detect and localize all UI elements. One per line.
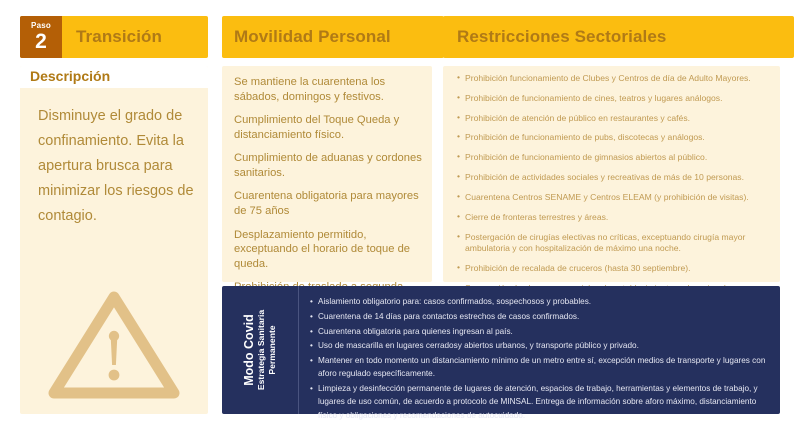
step-header: Paso 2 Transición: [20, 16, 208, 58]
mobility-item: Desplazamiento permitido, exceptuando el…: [234, 228, 422, 272]
restrictions-title: Restricciones Sectoriales: [457, 27, 666, 47]
mobility-item: Se mantiene la cuarentena los sábados, d…: [234, 75, 422, 104]
restriction-item: Prohibición de funcionamiento de gimnasi…: [457, 152, 768, 163]
covid-measure-item: Cuarentena de 14 días para contactos est…: [310, 310, 770, 323]
description-label: Descripción: [30, 68, 110, 84]
restriction-item: Cierre de fronteras terrestres y áreas.: [457, 212, 768, 223]
covid-measure-item: Aislamiento obligatorio para: casos conf…: [310, 295, 770, 308]
mobility-item: Cuarentena obligatoria para mayores de 7…: [234, 189, 422, 218]
description-text: Disminuye el grado de confinamiento. Evi…: [38, 104, 194, 229]
restrictions-header: Restricciones Sectoriales: [443, 16, 794, 58]
restriction-item: Prohibición de funcionamiento de cines, …: [457, 93, 768, 104]
covid-mode-sidebar: Modo Covid Estrategia Sanitaria Permanen…: [222, 286, 299, 414]
step-badge: Paso 2: [20, 16, 62, 58]
covid-mode-subtitle-line1: Estrategia Sanitaria: [256, 310, 267, 390]
covid-mode-subtitle-line2: Permanente: [267, 325, 278, 374]
restriction-item: Prohibición de actividades sociales y re…: [457, 172, 768, 183]
description-panel: Descripción Disminuye el grado de confin…: [20, 66, 208, 414]
restriction-item: Prohibición de atención de público en re…: [457, 113, 768, 124]
restriction-item: Prohibición funcionamiento de Clubes y C…: [457, 73, 768, 84]
restriction-item: Cuarentena Centros SENAME y Centros ELEA…: [457, 192, 768, 203]
restrictions-panel: Prohibición funcionamiento de Clubes y C…: [443, 66, 780, 282]
restrictions-list: Prohibición funcionamiento de Clubes y C…: [457, 73, 768, 302]
mobility-item: Cumplimiento de aduanas y cordones sanit…: [234, 151, 422, 180]
mobility-title: Movilidad Personal: [234, 27, 391, 47]
infographic-canvas: Paso 2 Transición Descripción Disminuye …: [0, 0, 800, 426]
covid-measure-item: Uso de mascarilla en lugares cerradosy a…: [310, 339, 770, 352]
mobility-list: Se mantiene la cuarentena los sábados, d…: [234, 75, 422, 318]
covid-mode-panel: Modo Covid Estrategia Sanitaria Permanen…: [222, 286, 780, 414]
mobility-header: Movilidad Personal: [222, 16, 444, 58]
covid-mode-title: Modo Covid: [242, 314, 256, 386]
restriction-item: Prohibición de funcionamiento de pubs, d…: [457, 132, 768, 143]
covid-measure-item: Limpieza y desinfección permanente de lu…: [310, 382, 770, 422]
covid-measure-item: Cuarentena obligatoria para quienes ingr…: [310, 325, 770, 338]
step-word: Paso: [31, 22, 51, 30]
warning-triangle-icon: [48, 289, 180, 406]
mobility-item: Cumplimiento del Toque Queda y distancia…: [234, 113, 422, 142]
mobility-panel: Se mantiene la cuarentena los sábados, d…: [222, 66, 432, 282]
covid-measure-item: Mantener en todo momento un distanciamie…: [310, 354, 770, 381]
restriction-item: Prohibición de recalada de cruceros (has…: [457, 263, 768, 274]
step-title: Transición: [76, 27, 162, 47]
covid-mode-list: Aislamiento obligatorio para: casos conf…: [299, 286, 780, 414]
restriction-item: Postergación de cirugías electivas no cr…: [457, 232, 768, 255]
step-number: 2: [35, 31, 47, 52]
